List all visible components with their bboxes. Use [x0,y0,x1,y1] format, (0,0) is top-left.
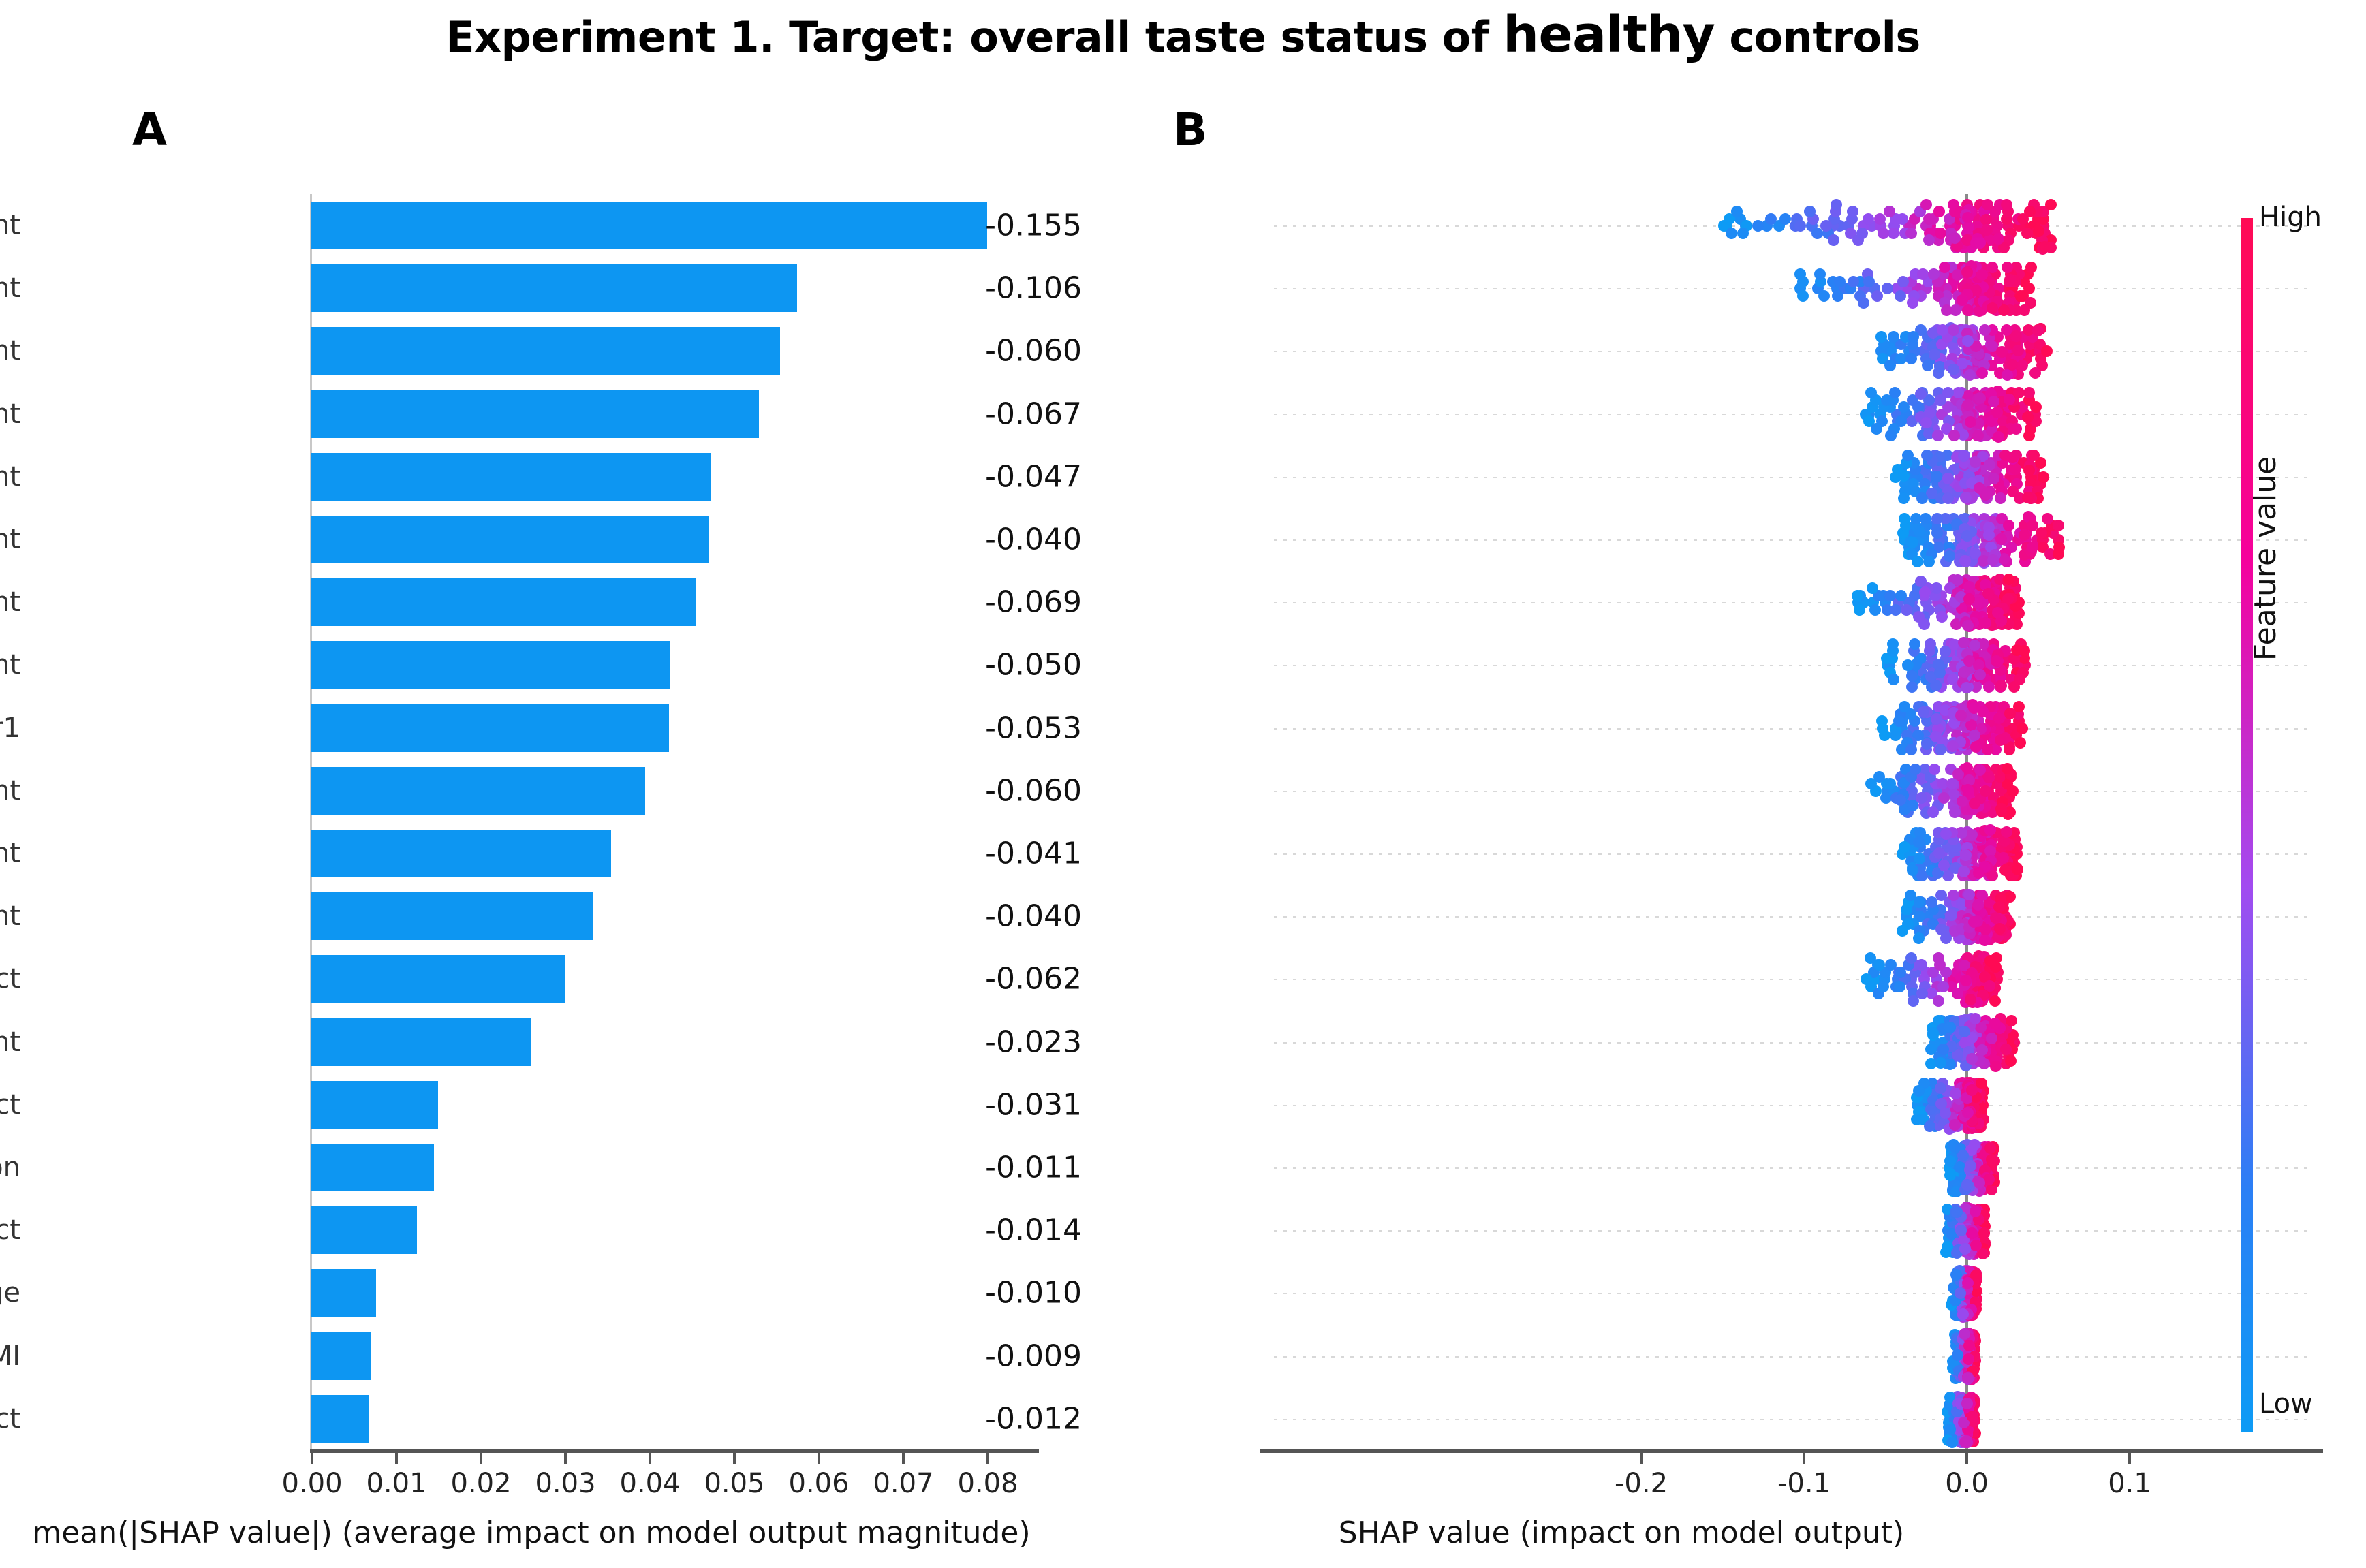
beeswarm-dot [1931,513,1943,524]
beeswarm-dot [1982,588,1994,599]
beeswarm-dot [1970,1240,1982,1251]
beeswarm-dot [1976,367,1988,379]
bar-row: salty_high_int [0,571,1063,633]
beeswarm-row: -0.1550.052 [1260,194,2350,257]
bar-category-label: astring_high_int [0,838,20,869]
beeswarm-row: -0.0310.010 [1260,1073,2350,1136]
beeswarm-dot [1907,537,1918,548]
feature-value-colorbar [2241,218,2253,1432]
beeswarm-dot [1997,852,2009,864]
beeswarm-dot [1897,213,1908,225]
bar-row: score_lowhigh_capsadstr1 [0,697,1063,759]
bar-rect [311,390,759,438]
beeswarm-dot [1980,785,1991,797]
beeswarm-dot [1933,847,1945,859]
beeswarm-dot [1907,297,1918,309]
beeswarm-dot [1871,423,1882,435]
beeswarm-dot [1865,952,1876,964]
beeswarm-dot [1794,220,1806,232]
beeswarm-row-min-value: -0.040 [985,899,1082,934]
bar-row: sweet_high_int [0,383,1063,445]
beeswarm-dot [1831,199,1842,210]
beeswarm-dot [1881,394,1893,406]
beeswarm-x-tick-label: 0.1 [2108,1468,2151,1499]
beeswarm-dot [1936,611,1948,623]
beeswarm-x-tick-label: -0.2 [1615,1468,1668,1499]
beeswarm-dot [1894,981,1905,992]
beeswarm-dot [1901,604,1912,616]
bar-category-label: sour_high_int [0,272,20,304]
beeswarm-dot [1765,213,1777,225]
beeswarm-row-guide [1274,1167,2309,1169]
beeswarm-dot [1981,224,1993,236]
beeswarm-dot [1973,867,1984,879]
beeswarm-dot [1818,290,1830,302]
beeswarm-dot [1923,556,1935,567]
beeswarm-dot [1993,233,2004,245]
bar-category-label: salty_high_int [0,586,20,618]
beeswarm-dot [2012,345,2024,356]
beeswarm-dot [1976,269,1988,281]
beeswarm-dot [1865,387,1877,398]
beeswarm-dot [2004,708,2016,719]
beeswarm-dot [1951,1206,1963,1218]
beeswarm-dot [1940,1108,1951,1119]
beeswarm-dot [1897,925,1908,937]
beeswarm-dot [1884,360,1896,371]
beeswarm-dot [1926,488,1937,499]
beeswarm-dot [1937,981,1949,992]
beeswarm-dot [1942,492,1954,504]
beeswarm-dot [1905,353,1917,364]
beeswarm-row: -0.0400.057 [1260,508,2350,571]
colorbar-low-label: Low [2259,1388,2313,1420]
bar-x-tick [986,1453,989,1464]
beeswarm-dot [1804,206,1816,217]
beeswarm-dot [1847,206,1858,217]
beeswarm-dot [1925,638,1936,650]
beeswarm-dot [2053,520,2064,531]
beeswarm-dot [1916,492,1928,504]
beeswarm-dot [1899,841,1910,853]
bar-rect [311,264,797,312]
beeswarm-dot [1856,228,1868,239]
beeswarm-dot [2030,401,2042,413]
beeswarm-dot [1919,586,1931,598]
beeswarm-dot [2023,465,2035,476]
beeswarm-x-tick [1640,1453,1643,1464]
beeswarm-dot [1955,1225,1967,1236]
bar-rect [311,830,611,877]
bar-rect [311,1018,531,1066]
beeswarm-dot [1969,1139,1980,1150]
beeswarm-dot [1969,730,1980,741]
beeswarm-row-guide [1274,1293,2309,1294]
bar-rect [311,1144,434,1191]
beeswarm-dot [1890,604,1901,616]
bar-x-tick [818,1453,820,1464]
beeswarm-dot [2010,423,2022,435]
bar-category-label: astring_low_taste_correct [0,1089,20,1120]
beeswarm-row: -0.0410.031 [1260,822,2350,885]
beeswarm-dot [2024,206,2036,217]
beeswarm-dot [1962,620,1974,631]
beeswarm-dot [1911,1114,1923,1125]
beeswarm-dot [1994,923,2006,935]
beeswarm-row: -0.1060.040 [1260,257,2350,319]
beeswarm-dot [1878,228,1889,239]
beeswarm-row-min-value: -0.010 [985,1276,1082,1311]
beeswarm-dot [1899,513,1910,524]
beeswarm-dot [1882,283,1893,294]
beeswarm-dot [1962,304,1974,316]
beeswarm-dot [1946,1437,1958,1448]
bar-row: hot_low_int [0,508,1063,571]
bar-row: hot_low_taste_correct [0,947,1063,1010]
beeswarm-x-tick [1965,1453,1968,1464]
beeswarm-row-min-value: -0.106 [985,271,1082,306]
beeswarm-row: -0.0140.011 [1260,1199,2350,1261]
beeswarm-dot [1811,228,1823,239]
beeswarm-dot [1962,1372,1974,1383]
bar-rect [311,327,780,375]
beeswarm-dot [1828,234,1839,246]
beeswarm-row-guide [1274,728,2309,730]
beeswarm-dot [2015,291,2027,302]
beeswarm-dot [1914,853,1925,864]
bar-category-label: bitter_high_taste_correct [0,1403,20,1434]
beeswarm-dot [1959,1243,1971,1255]
beeswarm-dot [1963,1353,1974,1365]
colorbar-high-label: High [2259,202,2322,233]
bar-x-tick-label: 0.01 [366,1468,426,1499]
beeswarm-dot [1906,670,1918,682]
beeswarm-dot [2003,574,2014,585]
beeswarm-dot [1917,268,1929,280]
beeswarm-dot [2004,274,2016,285]
beeswarm-dot [1970,741,1982,753]
beeswarm-dot [1897,276,1909,287]
beeswarm-row-guide [1274,477,2309,478]
bar-rect [311,955,565,1003]
beeswarm-dot [1898,492,1910,504]
beeswarm-dot [2013,387,2025,398]
beeswarm-row: -0.0120.005 [1260,1387,2350,1450]
beeswarm-row-min-value: -0.012 [985,1401,1082,1436]
bar-category-label: bitter_high_int [0,461,20,492]
beeswarm-dot [1961,1398,1973,1409]
bar-rect [311,1395,369,1443]
beeswarm-dot [1948,430,1960,441]
beeswarm-dot [1974,1177,1985,1189]
beeswarm-row-min-value: -0.050 [985,648,1082,683]
beeswarm-row: -0.0500.036 [1260,633,2350,696]
beeswarm-row: -0.0100.006 [1260,1261,2350,1324]
beeswarm-dot [1923,234,1935,246]
beeswarm-dot [2001,199,2012,210]
beeswarm-dot [1895,290,1906,302]
beeswarm-dot [1929,764,1940,775]
bar-x-tick-label: 0.00 [281,1468,342,1499]
bar-x-tick-label: 0.05 [704,1468,764,1499]
beeswarm-dot [1961,682,1972,693]
beeswarm-dot [1920,199,1932,210]
bar-rect [311,704,669,752]
beeswarm-dot [1948,324,1959,336]
bar-row: astring_low_taste_correct [0,1073,1063,1136]
beeswarm-dot [2022,492,2034,503]
beeswarm-dot [1797,290,1809,302]
bar-row: astring_low_int [0,633,1063,696]
beeswarm-dot [1963,593,1975,605]
bar-x-tick-label: 0.03 [535,1468,595,1499]
beeswarm-dot [1976,1044,1988,1056]
beeswarm-dot [1854,604,1865,616]
beeswarm-dot [1858,297,1869,309]
beeswarm-row-min-value: -0.060 [985,334,1082,369]
beeswarm-dot [1935,1082,1946,1094]
beeswarm-row-min-value: -0.014 [985,1213,1082,1248]
beeswarm-dot [1916,988,1928,999]
beeswarm-dot [1964,369,1976,381]
beeswarm-dot [2005,1055,2017,1067]
beeswarm-dot [2014,737,2026,749]
bar-row: BMI [0,1325,1063,1387]
beeswarm-dot [1991,655,2002,667]
beeswarm-x-tick-label: 0.0 [1945,1468,1989,1499]
bar-row: bitter_low_int [0,319,1063,382]
beeswarm-dot [2002,262,2013,273]
beeswarm-dot [1918,706,1929,718]
beeswarm-dot [2008,681,2020,693]
beeswarm-dot [1927,1027,1939,1039]
beeswarm-dot [1867,582,1878,594]
bar-rect [311,578,696,626]
beeswarm-dot [1952,1349,1963,1361]
beeswarm-dot [1737,228,1749,239]
beeswarm-dot [1884,206,1895,217]
beeswarm-dot [2029,367,2041,379]
bar-category-label: salty_low_int [0,210,20,241]
colorbar-title: Feature value [2248,422,2283,695]
bar-rect [311,641,670,689]
bar-chart-x-axis-label: mean(|SHAP value|) (average impact on mo… [0,1516,1063,1550]
beeswarm-dot [1961,1435,1972,1447]
beeswarm-dot [1884,778,1896,789]
bar-x-tick-label: 0.04 [619,1468,680,1499]
beeswarm-row-guide [1274,916,2309,918]
bar-category-label: astring_low_int [0,649,20,680]
beeswarm-dot [1907,800,1918,811]
beeswarm-dot [1955,710,1967,721]
beeswarm-dot [1939,262,1950,273]
beeswarm-x-axis-label: SHAP value (impact on model output) [1145,1516,2098,1550]
beeswarm-dot [1990,1061,2002,1072]
beeswarm-dot [2010,463,2021,475]
beeswarm-dot [1950,1269,1962,1281]
beeswarm-dot [2003,520,2014,531]
beeswarm-dot [1935,228,1946,239]
beeswarm-dot [2032,325,2044,336]
beeswarm-dot [1984,459,1995,471]
beeswarm-row-guide [1274,602,2309,603]
beeswarm-row-guide [1274,414,2309,415]
beeswarm-row: -0.0400.028 [1260,885,2350,947]
beeswarm-dot [1981,488,1993,499]
beeswarm-dot [1983,772,1995,783]
bar-rect [311,767,645,815]
bar-x-tick-label: 0.08 [957,1468,1018,1499]
beeswarm-row-min-value: -0.053 [985,710,1082,745]
beeswarm-row-guide [1274,1419,2309,1420]
beeswarm-row-guide [1274,665,2309,666]
beeswarm-dot [1960,492,1972,503]
bar-category-label: depression [0,1152,20,1183]
beeswarm-dot [1890,730,1901,741]
beeswarm-dot [2033,225,2044,237]
beeswarm-dot [1974,764,1986,776]
beeswarm-row: -0.0690.033 [1260,571,2350,633]
beeswarm-row-guide [1274,791,2309,792]
beeswarm-dot [1752,220,1764,232]
bar-x-tick [564,1453,567,1464]
beeswarm-dot [1779,213,1791,225]
beeswarm-dot [1962,399,1974,411]
bar-x-tick [902,1453,905,1464]
beeswarm-dot [1884,590,1896,601]
beeswarm-dot [1941,304,1952,316]
bar-x-tick [311,1453,313,1464]
beeswarm-row-guide [1274,853,2309,855]
beeswarm-dot [1962,784,1974,796]
beeswarm-dot [1940,828,1952,840]
beeswarm-dot [1983,529,1995,541]
beeswarm-dot [2025,262,2037,273]
beeswarm-dot [1995,492,2006,504]
beeswarm-dot [1962,1107,1974,1118]
beeswarm-dot [1933,206,1945,217]
beeswarm-dot [1869,604,1881,616]
bar-row: salty_low_int [0,194,1063,257]
beeswarm-dot [1990,961,2002,973]
bar-x-tick [733,1453,736,1464]
beeswarm-dot [1863,276,1875,287]
beeswarm-dot [1927,806,1939,818]
beeswarm-dot [1888,228,1899,239]
bar-category-label: BMI [0,1340,20,1372]
beeswarm-dot [1885,430,1897,441]
beeswarm-row-min-value: -0.031 [985,1087,1082,1122]
beeswarm-dot [1980,617,1991,629]
beeswarm-dot [1989,1018,2001,1029]
bar-x-tick-label: 0.02 [450,1468,511,1499]
beeswarm-dot [2027,542,2038,553]
beeswarm-dot [1907,864,1918,876]
beeswarm-dot [2004,891,2016,903]
beeswarm-panel: -0.1550.052-0.1060.040-0.0600.051-0.0670… [1063,0,2366,1568]
beeswarm-dot [2017,360,2028,371]
beeswarm-dot [2022,411,2034,423]
beeswarm-dot [1731,206,1743,217]
bar-category-label: sour_low_int [0,1026,20,1058]
bar-row: bitter_low_taste_correct [0,1199,1063,1261]
beeswarm-row-guide [1274,1042,2309,1044]
beeswarm-dot [1893,715,1905,727]
beeswarm-row-guide [1274,1356,2309,1358]
beeswarm-dot [1944,1155,1956,1167]
beeswarm-dot [1922,360,1933,371]
beeswarm-dot [1913,836,1925,848]
beeswarm-dot [1949,1119,1961,1131]
beeswarm-dot [1937,1044,1949,1055]
beeswarm-dot [1965,1160,1976,1172]
beeswarm-dot [1935,744,1946,755]
beeswarm-row-min-value: -0.011 [985,1150,1082,1185]
beeswarm-row-guide [1274,1105,2309,1106]
beeswarm-dot [2027,520,2038,531]
beeswarm-dot [2006,1015,2017,1026]
beeswarm-dot [1905,228,1917,239]
beeswarm-row: -0.0670.043 [1260,383,2350,445]
beeswarm-dot [2021,228,2033,239]
beeswarm-dot [1990,912,2002,924]
bar-x-tick [395,1453,398,1464]
beeswarm-dot [1972,899,1984,911]
beeswarm-dot [1992,607,2004,618]
bar-row: astring_high_int [0,822,1063,885]
beeswarm-dot [1982,199,1993,210]
beeswarm-row: -0.0530.035 [1260,697,2350,759]
bar-x-tick [480,1453,482,1464]
beeswarm-dot [1909,638,1920,650]
beeswarm-dot [1963,889,1975,900]
beeswarm-dot [1988,473,1999,484]
beeswarm-row-min-value: -0.060 [985,773,1082,808]
bar-rect [311,1081,438,1129]
beeswarm-dot [1970,1206,1981,1217]
beeswarm-dot [1905,744,1917,755]
bar-category-label: hot_low_taste_correct [0,963,20,994]
beeswarm-row-guide [1274,288,2309,289]
beeswarm-dot [1962,212,1974,223]
beeswarm-dot [1930,731,1942,742]
beeswarm-dot [1871,290,1883,302]
beeswarm-dot [1961,1179,1973,1191]
bar-rect [311,1206,417,1254]
beeswarm-dot [1920,513,1931,524]
bar-x-tick-label: 0.07 [873,1468,933,1499]
beeswarm-row-guide [1274,351,2309,352]
bar-x-tick [649,1453,651,1464]
beeswarm-dot [1923,213,1935,225]
bar-chart-panel: salty_low_intsour_high_intbitter_low_int… [0,0,1063,1568]
bar-category-label: sweet_high_int [0,398,20,430]
beeswarm-dot [1959,1328,1970,1340]
beeswarm-row-guide [1274,1230,2309,1232]
bar-rect [311,516,709,563]
beeswarm-dot [1878,981,1889,992]
beeswarm-row-min-value: -0.069 [985,585,1082,620]
beeswarm-row-min-value: -0.041 [985,836,1082,871]
bar-rect [311,202,987,249]
beeswarm-row-min-value: -0.047 [985,459,1082,494]
beeswarm-dot [1832,290,1843,302]
bar-x-tick-label: 0.06 [788,1468,849,1499]
beeswarm-dot [1963,1340,1975,1351]
beeswarm-row: -0.0230.029 [1260,1011,2350,1073]
bar-rect [311,1269,376,1317]
beeswarm-dot [1915,576,1927,587]
